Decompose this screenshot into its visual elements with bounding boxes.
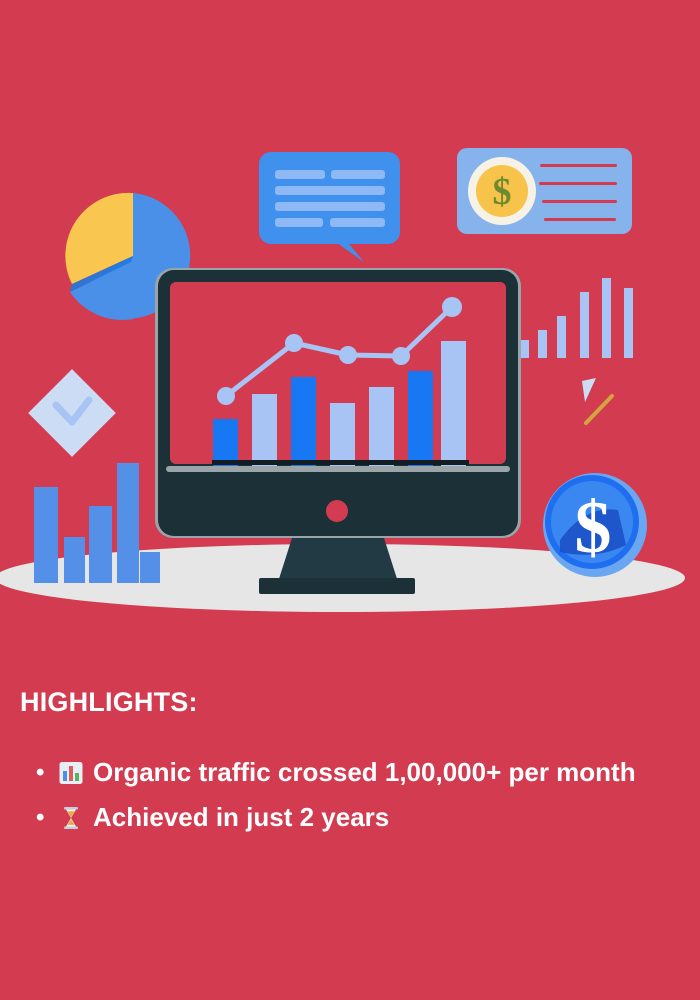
bubble-line-1a [275, 170, 325, 179]
screen-trend-point-4 [392, 347, 410, 365]
money-card: $ [457, 148, 632, 234]
list-item-label: Organic traffic crossed 1,00,000+ per mo… [93, 756, 636, 790]
monitor-bezel-highlight [166, 466, 510, 472]
bubble-line-3 [275, 202, 385, 211]
screen-bar-2 [252, 394, 277, 469]
poster-page: $ [0, 0, 700, 1000]
card-line-3 [542, 200, 617, 203]
coin-dollar-glyph: $ [575, 487, 612, 569]
screen-bar-4 [330, 403, 355, 469]
right-bar-6 [624, 288, 633, 358]
highlights-list: • Organic traffic crossed 1,00,000+ per … [20, 756, 680, 836]
screen-trend-point-2 [285, 334, 303, 352]
page-title: HIGHLIGHTS: [20, 688, 680, 718]
bullet-marker: • [36, 761, 58, 785]
left-bar-5 [140, 552, 160, 583]
list-item-label: Achieved in just 2 years [93, 801, 389, 835]
right-bar-2 [538, 330, 547, 358]
list-item: • Organic traffic crossed 1,00,000+ per … [20, 756, 680, 790]
card-dollar-glyph: $ [493, 171, 512, 213]
bubble-line-4b [330, 218, 385, 227]
monitor-power-dot [326, 500, 348, 522]
card-line-1 [540, 164, 617, 167]
bullet-marker: • [36, 806, 58, 830]
left-bar-1 [34, 487, 58, 583]
bubble-line-2 [275, 186, 385, 195]
screen-bar-7 [441, 341, 466, 469]
left-bar-2 [64, 537, 85, 583]
left-bar-4 [117, 463, 139, 583]
monitor-stand [278, 538, 398, 582]
bubble-line-1b [331, 170, 385, 179]
screen-trend-point-5 [442, 297, 462, 317]
monitor-base [259, 578, 415, 594]
hourglass-emoji [58, 805, 84, 831]
right-bar-1 [520, 340, 529, 358]
list-item: • Achieved in just 2 years [20, 801, 680, 835]
right-bar-5 [602, 278, 611, 358]
screen-trend-point-3 [339, 346, 357, 364]
right-bar-3 [557, 316, 566, 358]
screen-bar-3 [291, 377, 316, 469]
screen-axis-line [212, 460, 469, 465]
bar-chart-emoji [58, 760, 84, 786]
screen-bar-5 [369, 387, 394, 469]
card-line-4 [544, 218, 616, 221]
bubble-line-4a [275, 218, 323, 227]
right-bar-4 [580, 292, 589, 358]
highlights-section: HIGHLIGHTS: • Organic traffic crossed 1,… [0, 640, 700, 1000]
dollar-coin: $ [543, 473, 647, 577]
left-bar-3 [89, 506, 112, 583]
screen-trend-point-1 [217, 387, 235, 405]
card-line-2 [539, 182, 617, 185]
hero-illustration: $ [0, 0, 700, 640]
screen-bar-6 [408, 371, 433, 469]
